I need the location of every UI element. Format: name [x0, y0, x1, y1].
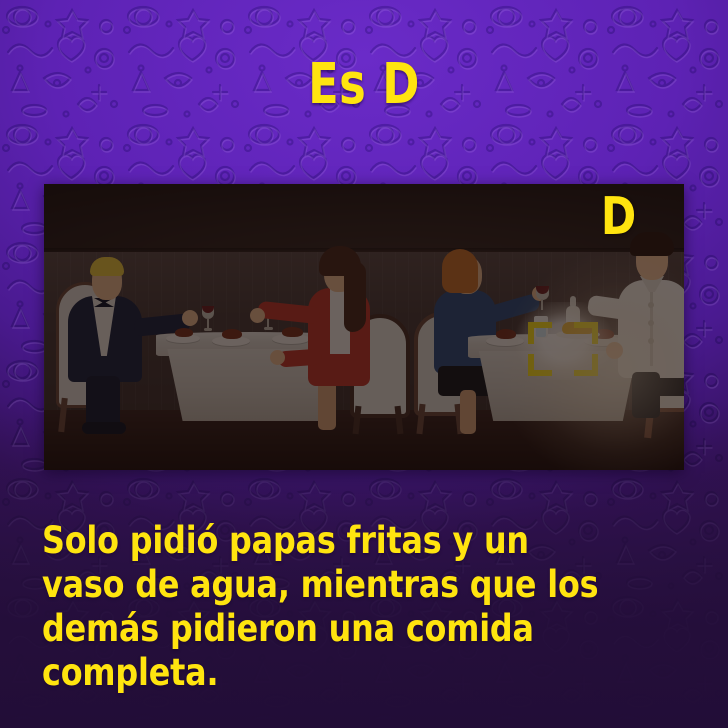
bracket-corner-top-left: [528, 322, 552, 344]
hand: [270, 350, 285, 365]
ceiling-band: [44, 184, 684, 252]
legs: [632, 372, 660, 418]
food: [222, 329, 242, 339]
illustration-panel: D: [44, 184, 684, 470]
figure-dark-haired-man-in-white: [592, 246, 684, 436]
food: [175, 328, 193, 337]
quiz-slide: Es D: [0, 0, 728, 728]
legs: [460, 390, 476, 434]
hair-long: [344, 262, 366, 332]
caption-text: Solo pidió papas fritas y un vaso de agu…: [42, 519, 610, 695]
hand: [606, 342, 623, 359]
shirt-button: [648, 320, 654, 326]
answer-letter-badge: D: [601, 190, 636, 244]
hand: [250, 308, 265, 323]
shirt-placket: [650, 286, 653, 366]
wine-glass-held: [536, 286, 549, 314]
hair: [630, 232, 674, 256]
shirt-button: [648, 302, 654, 308]
bracket-corner-bottom-left: [528, 354, 552, 376]
shoe: [82, 422, 126, 434]
page-title: Es D: [73, 56, 655, 114]
hair: [442, 249, 478, 293]
food: [496, 329, 516, 339]
answer-highlight-bracket: [528, 322, 598, 376]
hair: [90, 257, 124, 276]
wine-glass: [202, 306, 214, 332]
hand: [182, 310, 198, 326]
shirt-button: [648, 338, 654, 344]
